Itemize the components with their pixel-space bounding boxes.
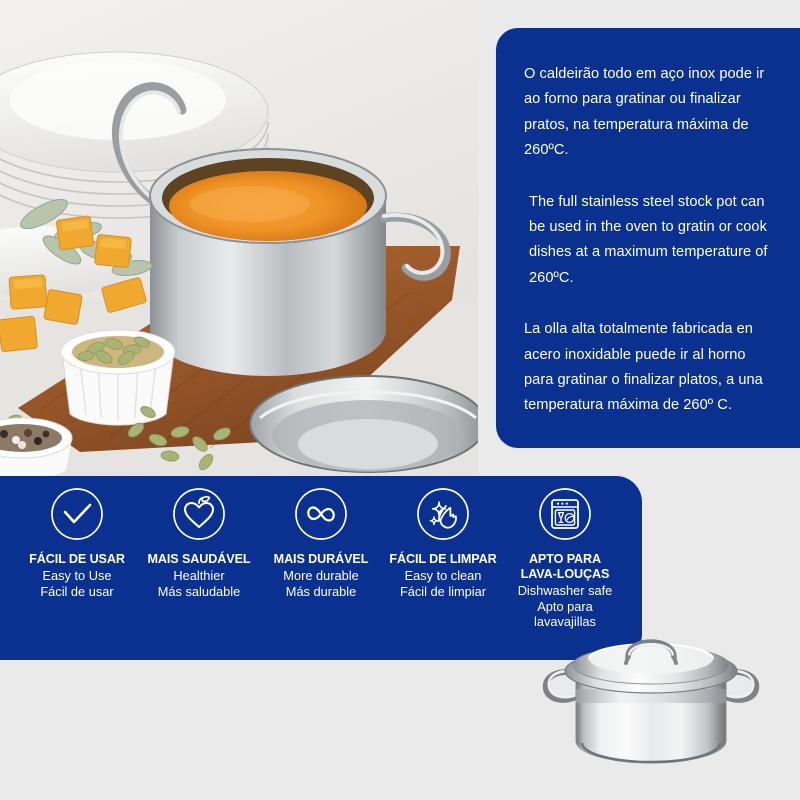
- feature-title-es: Fácil de usar: [18, 584, 136, 600]
- description-portuguese: O caldeirão todo em aço inox pode ir ao …: [524, 62, 778, 164]
- feature-title-en: More durable: [262, 568, 380, 584]
- feature-easy-to-use: FÁCIL DE USAR Easy to Use Fácil de usar: [18, 486, 136, 600]
- feature-more-durable: MAIS DURÁVEL More durable Más durable: [262, 486, 380, 600]
- infinity-icon: [293, 486, 349, 542]
- product-infographic: O caldeirão todo em aço inox pode ir ao …: [0, 0, 800, 800]
- check-circle-icon: [49, 486, 105, 542]
- cleaning-hand-sparkle-icon: [415, 486, 471, 542]
- feature-title-es: Más saludable: [140, 584, 258, 600]
- feature-dishwasher-safe: APTO PARA LAVA-LOUÇAS Dishwasher safe Ap…: [506, 486, 624, 630]
- feature-healthier: MAIS SAUDÁVEL Healthier Más saludable: [140, 486, 258, 600]
- feature-title-es: Más durable: [262, 584, 380, 600]
- feature-title-pt: MAIS DURÁVEL: [262, 552, 380, 567]
- description-panel: O caldeirão todo em aço inox pode ir ao …: [496, 28, 800, 448]
- feature-title-en: Dishwasher safe: [506, 583, 624, 599]
- description-spanish: La olla alta totalmente fabricada en ace…: [524, 317, 778, 419]
- dishwasher-icon: [537, 486, 593, 542]
- feature-title-en: Healthier: [140, 568, 258, 584]
- feature-title-pt: MAIS SAUDÁVEL: [140, 552, 258, 567]
- feature-title-en: Easy to clean: [384, 568, 502, 584]
- feature-easy-to-clean: FÁCIL DE LIMPAR Easy to clean Fácil de l…: [384, 486, 502, 600]
- feature-title-pt: APTO PARA LAVA-LOUÇAS: [506, 552, 624, 582]
- apple-heart-icon: [171, 486, 227, 542]
- product-image-stock-pot: [536, 615, 766, 783]
- feature-title-en: Easy to Use: [18, 568, 136, 584]
- feature-title-pt: FÁCIL DE USAR: [18, 552, 136, 567]
- feature-title-pt: FÁCIL DE LIMPAR: [384, 552, 502, 567]
- lifestyle-photo: [0, 0, 478, 478]
- features-list: FÁCIL DE USAR Easy to Use Fácil de usar …: [18, 486, 624, 630]
- feature-title-es: Fácil de limpiar: [384, 584, 502, 600]
- description-english: The full stainless steel stock pot can b…: [524, 190, 778, 292]
